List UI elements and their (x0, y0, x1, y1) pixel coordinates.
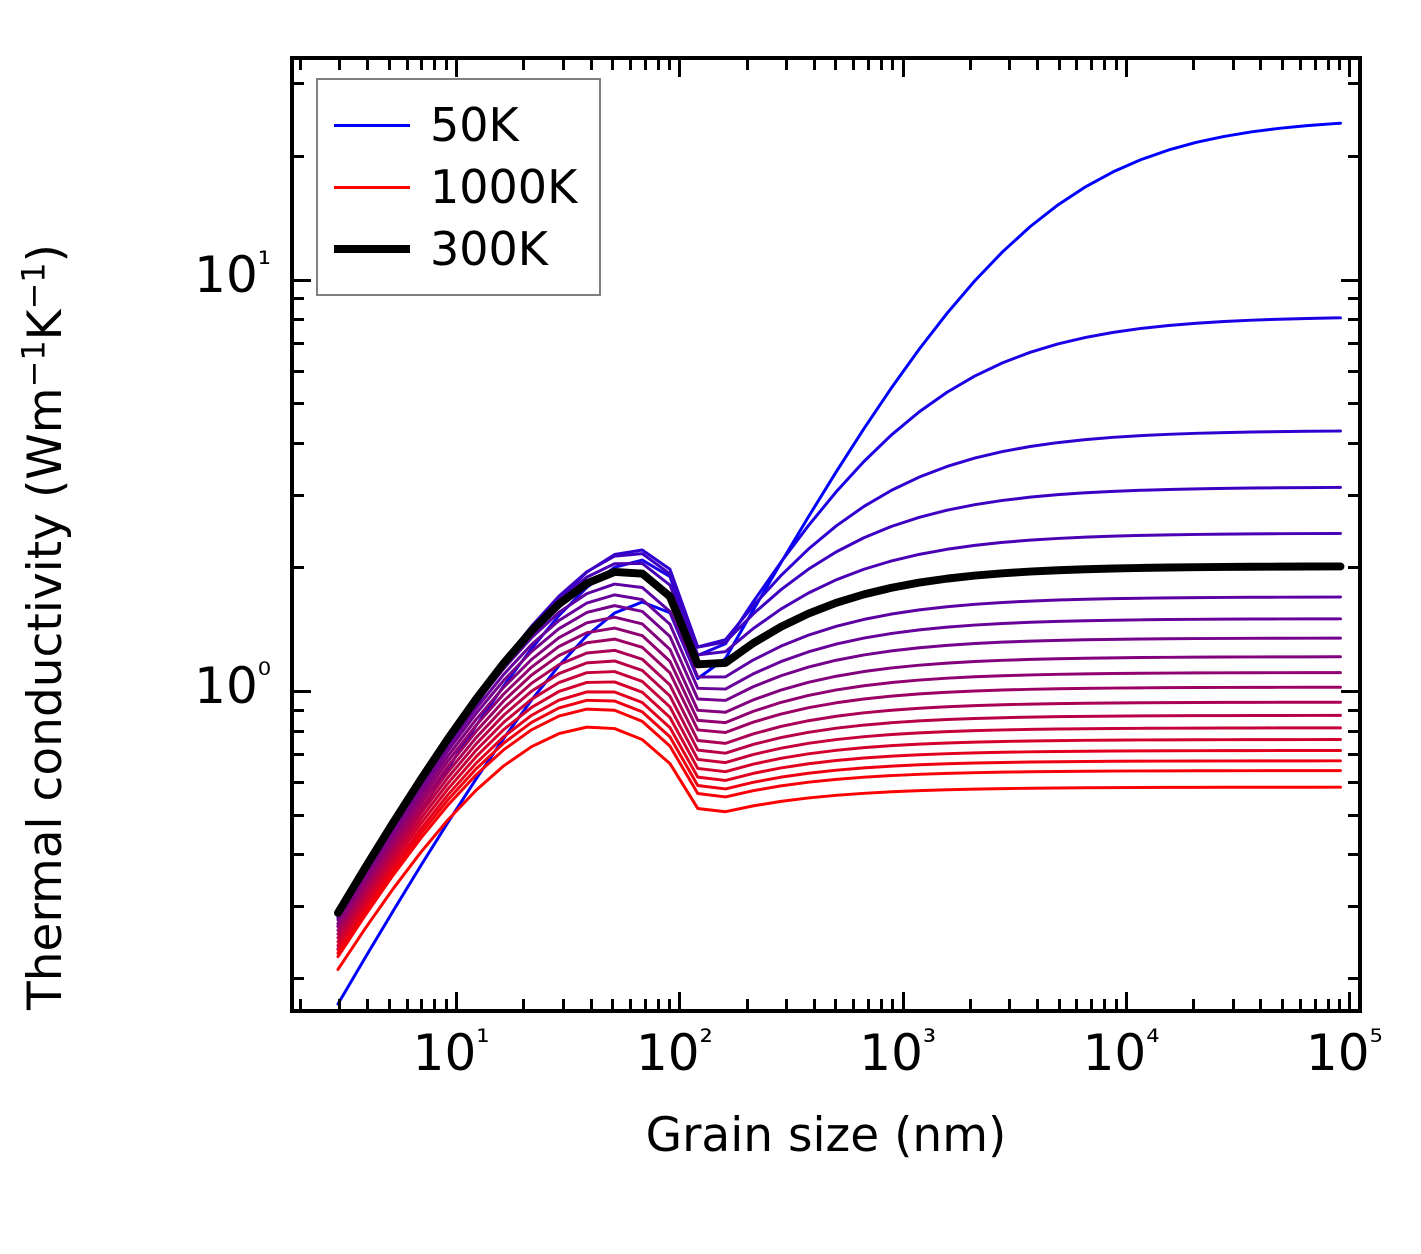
y-minor-tick-4 (294, 442, 304, 445)
x-minor-tick-top-4 (366, 60, 369, 70)
y-minor-tick-0.4 (294, 853, 304, 856)
x-minor-tick-top-400 (813, 60, 816, 70)
x-tick-label-10: 10¹ (413, 1024, 490, 1082)
x-major-tick-100000 (1348, 992, 1351, 1009)
x-minor-tick-top-90000 (1338, 60, 1341, 70)
x-minor-tick-top-40000 (1259, 60, 1262, 70)
legend-swatch-1000K (334, 186, 410, 189)
curve-100K (338, 318, 1340, 949)
legend-swatch-300K (334, 245, 410, 253)
x-minor-tick-40000 (1259, 999, 1262, 1009)
x-minor-tick-top-5000 (1058, 60, 1061, 70)
y-minor-tick-20 (294, 155, 304, 158)
legend-label-1000K: 1000K (430, 160, 577, 214)
x-minor-tick-top-7 (420, 60, 423, 70)
x-minor-tick-top-8 (433, 60, 436, 70)
x-minor-tick-5 (388, 999, 391, 1009)
x-major-tick-top-1000 (902, 60, 905, 77)
x-minor-tick-30000 (1232, 999, 1235, 1009)
x-minor-tick-60 (629, 999, 632, 1009)
x-minor-tick-600 (852, 999, 855, 1009)
x-minor-tick-60000 (1299, 999, 1302, 1009)
legend-label-300K: 300K (430, 222, 548, 276)
x-minor-tick-9 (445, 999, 448, 1009)
x-minor-tick-8 (433, 999, 436, 1009)
y-minor-tick-right-0.5 (1348, 814, 1358, 817)
x-minor-tick-20 (522, 999, 525, 1009)
y-minor-tick-right-20 (1348, 155, 1358, 158)
y-minor-tick-8 (294, 318, 304, 321)
x-minor-tick-50 (611, 999, 614, 1009)
x-minor-tick-200 (746, 999, 749, 1009)
y-minor-tick-0.30000000000000004 (294, 905, 304, 908)
y-minor-tick-right-0.9 (1348, 709, 1358, 712)
y-minor-tick-3 (294, 494, 304, 497)
x-minor-tick-top-20 (522, 60, 525, 70)
x-minor-tick-400 (813, 999, 816, 1009)
x-minor-tick-top-70000 (1314, 60, 1317, 70)
x-minor-tick-top-8000 (1103, 60, 1106, 70)
x-tick-label-1000: 10³ (859, 1024, 936, 1082)
x-minor-tick-top-3000 (1008, 60, 1011, 70)
x-axis-label: Grain size (nm) (290, 1108, 1362, 1163)
curve-800K (338, 682, 1340, 946)
x-minor-tick-top-6000 (1075, 60, 1078, 70)
y-minor-tick-right-8 (1348, 318, 1358, 321)
y-minor-tick-0.8 (294, 730, 304, 733)
x-minor-tick-90 (668, 999, 671, 1009)
x-major-tick-10000 (1125, 992, 1128, 1009)
x-major-tick-top-100 (678, 60, 681, 77)
x-minor-tick-6 (406, 999, 409, 1009)
y-minor-tick-right-0.6000000000000001 (1348, 781, 1358, 784)
y-major-tick-right-10 (1341, 279, 1358, 282)
y-minor-tick-right-30 (1348, 82, 1358, 85)
figure-canvas: Thermal conductivity (Wm−1K−1) Grain siz… (0, 0, 1421, 1254)
x-minor-tick-9000 (1115, 999, 1118, 1009)
y-major-tick-right-1 (1341, 690, 1358, 693)
y-tick-label-10: 10¹ (194, 246, 271, 304)
legend-item-300K: 300K (334, 218, 577, 280)
y-axis-label: Thermal conductivity (Wm−1K−1) (0, 0, 90, 1254)
y-minor-tick-right-5 (1348, 402, 1358, 405)
x-minor-tick-5000 (1058, 999, 1061, 1009)
x-tick-label-10000: 10⁴ (1083, 1024, 1160, 1082)
y-minor-tick-right-0.7000000000000001 (1348, 753, 1358, 756)
x-minor-tick-80000 (1327, 999, 1330, 1009)
x-minor-tick-30 (562, 999, 565, 1009)
x-minor-tick-500 (834, 999, 837, 1009)
x-minor-tick-top-5 (388, 60, 391, 70)
y-minor-tick-right-3 (1348, 494, 1358, 497)
y-axis-label-text: Thermal conductivity (Wm−1K−1) (18, 244, 73, 1010)
x-minor-tick-top-200 (746, 60, 749, 70)
y-minor-tick-6 (294, 370, 304, 373)
x-minor-tick-top-700 (867, 60, 870, 70)
x-minor-tick-top-2 (299, 60, 302, 70)
x-minor-tick-top-9000 (1115, 60, 1118, 70)
x-minor-tick-2 (299, 999, 302, 1009)
y-minor-tick-right-9 (1348, 297, 1358, 300)
x-minor-tick-800 (880, 999, 883, 1009)
x-minor-tick-50000 (1281, 999, 1284, 1009)
x-major-tick-top-100000 (1348, 60, 1351, 77)
x-minor-tick-top-900 (891, 60, 894, 70)
x-minor-tick-70000 (1314, 999, 1317, 1009)
x-minor-tick-8000 (1103, 999, 1106, 1009)
x-minor-tick-3 (338, 999, 341, 1009)
x-minor-tick-2000 (969, 999, 972, 1009)
x-minor-tick-top-80000 (1327, 60, 1330, 70)
x-minor-tick-top-30000 (1232, 60, 1235, 70)
x-major-tick-1000 (902, 992, 905, 1009)
y-minor-tick-right-2 (1348, 566, 1358, 569)
x-minor-tick-top-2000 (969, 60, 972, 70)
x-minor-tick-top-50 (611, 60, 614, 70)
x-minor-tick-7000 (1090, 999, 1093, 1009)
legend-item-50K: 50K (334, 94, 577, 156)
x-minor-tick-90000 (1338, 999, 1341, 1009)
x-major-tick-top-10 (455, 60, 458, 77)
x-minor-tick-top-4000 (1036, 60, 1039, 70)
curve-550K (338, 628, 1340, 927)
y-minor-tick-right-0.4 (1348, 853, 1358, 856)
y-tick-label-1: 10⁰ (194, 657, 271, 715)
y-minor-tick-0.7000000000000001 (294, 753, 304, 756)
y-minor-tick-5 (294, 402, 304, 405)
x-minor-tick-top-500 (834, 60, 837, 70)
y-minor-tick-right-6 (1348, 370, 1358, 373)
y-minor-tick-0.9 (294, 709, 304, 712)
x-major-tick-10 (455, 992, 458, 1009)
x-minor-tick-top-70 (644, 60, 647, 70)
x-minor-tick-top-3 (338, 60, 341, 70)
y-minor-tick-right-0.8 (1348, 730, 1358, 733)
x-minor-tick-top-6 (406, 60, 409, 70)
y-minor-tick-30 (294, 82, 304, 85)
x-minor-tick-top-600 (852, 60, 855, 70)
legend-label-50K: 50K (430, 98, 519, 152)
x-minor-tick-20000 (1192, 999, 1195, 1009)
x-minor-tick-top-300 (785, 60, 788, 70)
y-minor-tick-0.5 (294, 814, 304, 817)
x-minor-tick-top-20000 (1192, 60, 1195, 70)
x-minor-tick-top-40 (590, 60, 593, 70)
x-minor-tick-top-60 (629, 60, 632, 70)
x-minor-tick-top-7000 (1090, 60, 1093, 70)
y-minor-tick-7 (294, 342, 304, 345)
x-minor-tick-top-90 (668, 60, 671, 70)
y-major-tick-10 (294, 279, 311, 282)
y-minor-tick-0.6000000000000001 (294, 781, 304, 784)
y-major-tick-1 (294, 690, 311, 693)
x-tick-label-100: 10² (636, 1024, 713, 1082)
y-minor-tick-2 (294, 566, 304, 569)
x-minor-tick-top-800 (880, 60, 883, 70)
y-minor-tick-9 (294, 297, 304, 300)
y-minor-tick-right-7 (1348, 342, 1358, 345)
x-minor-tick-top-60000 (1299, 60, 1302, 70)
x-minor-tick-70 (644, 999, 647, 1009)
x-minor-tick-4 (366, 999, 369, 1009)
x-minor-tick-6000 (1075, 999, 1078, 1009)
x-minor-tick-3000 (1008, 999, 1011, 1009)
legend-item-1000K: 1000K (334, 156, 577, 218)
x-minor-tick-top-9 (445, 60, 448, 70)
x-minor-tick-top-30 (562, 60, 565, 70)
x-tick-label-100000: 10⁵ (1306, 1024, 1383, 1082)
x-major-tick-top-10000 (1125, 60, 1128, 77)
x-minor-tick-4000 (1036, 999, 1039, 1009)
x-minor-tick-7 (420, 999, 423, 1009)
y-minor-tick-right-4 (1348, 442, 1358, 445)
x-minor-tick-900 (891, 999, 894, 1009)
x-major-tick-100 (678, 992, 681, 1009)
x-minor-tick-top-50000 (1281, 60, 1284, 70)
legend: 50K1000K300K (316, 78, 601, 296)
y-minor-tick-0.2 (294, 977, 304, 980)
legend-swatch-50K (334, 124, 410, 127)
x-minor-tick-700 (867, 999, 870, 1009)
x-minor-tick-40 (590, 999, 593, 1009)
x-minor-tick-top-80 (657, 60, 660, 70)
x-minor-tick-80 (657, 999, 660, 1009)
y-minor-tick-right-0.2 (1348, 977, 1358, 980)
y-minor-tick-right-0.30000000000000004 (1348, 905, 1358, 908)
x-minor-tick-300 (785, 999, 788, 1009)
